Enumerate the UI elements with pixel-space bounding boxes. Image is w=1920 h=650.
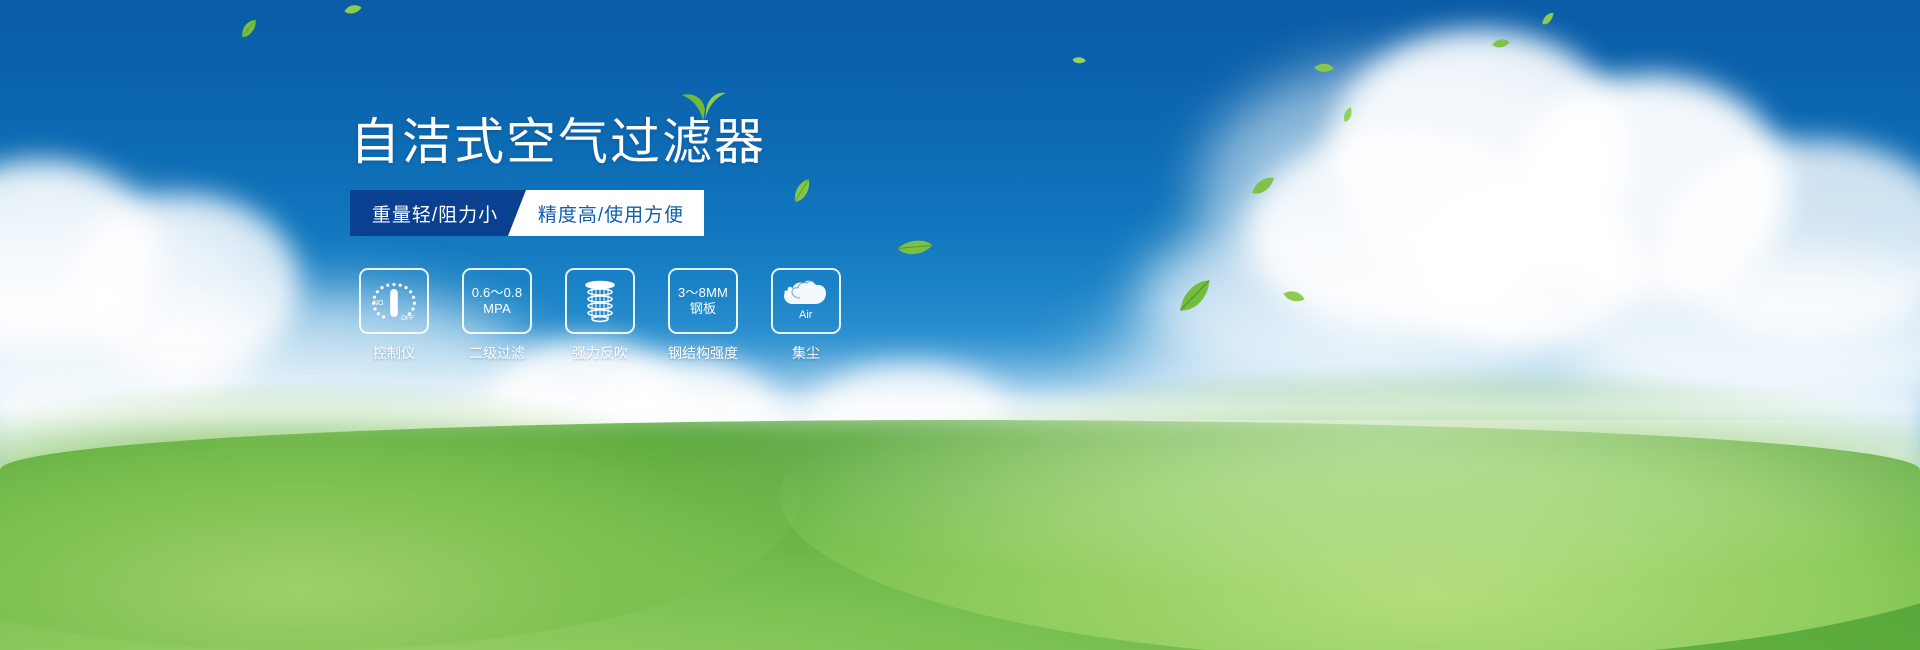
- steel-line-2: 钢板: [690, 301, 716, 317]
- gauge-dial-icon: NO OFF: [359, 268, 429, 334]
- feature-item-steel-strength[interactable]: 3～8MM 钢板 钢结构强度: [665, 268, 741, 363]
- feature-caption: 二级过滤: [469, 343, 525, 363]
- feature-item-dust-collection[interactable]: Air 集尘: [768, 268, 844, 363]
- svg-text:Air: Air: [799, 309, 813, 321]
- pressure-text-icon: 0.6～0.8 MPA: [462, 268, 532, 334]
- feature-list: NO OFF 控制仪 0.6～0.8 MPA 二级过滤: [356, 268, 844, 363]
- tag-weight-resistance[interactable]: 重量轻/阻力小: [350, 190, 526, 236]
- feature-caption: 控制仪: [373, 343, 415, 363]
- feature-item-control-meter[interactable]: NO OFF 控制仪: [356, 268, 432, 363]
- steel-plate-text-icon: 3～8MM 钢板: [668, 268, 738, 334]
- svg-text:NO: NO: [373, 300, 384, 307]
- svg-text:OFF: OFF: [401, 315, 414, 322]
- banner-stage: 自洁式空气过滤器 重量轻/阻力小 精度高/使用方便: [0, 0, 1920, 650]
- feature-item-two-stage-filter[interactable]: 0.6～0.8 MPA 二级过滤: [459, 268, 535, 363]
- tag-precision-usability[interactable]: 精度高/使用方便: [508, 190, 704, 236]
- tag-group: 重量轻/阻力小 精度高/使用方便: [350, 190, 704, 236]
- page-title: 自洁式空气过滤器: [350, 117, 766, 167]
- steel-line-1: 3～8MM: [678, 285, 728, 301]
- banner-content: 自洁式空气过滤器 重量轻/阻力小 精度高/使用方便: [0, 0, 1920, 650]
- feature-caption: 集尘: [792, 343, 820, 363]
- feature-caption: 强力反吹: [572, 343, 628, 363]
- pressure-line-2: MPA: [483, 301, 511, 317]
- filter-cartridge-icon: [565, 268, 635, 334]
- feature-item-pulse-jet[interactable]: 强力反吹: [562, 268, 638, 363]
- feature-caption: 钢结构强度: [668, 343, 738, 363]
- pressure-line-1: 0.6～0.8: [472, 285, 523, 301]
- dust-cloud-icon: Air: [771, 268, 841, 334]
